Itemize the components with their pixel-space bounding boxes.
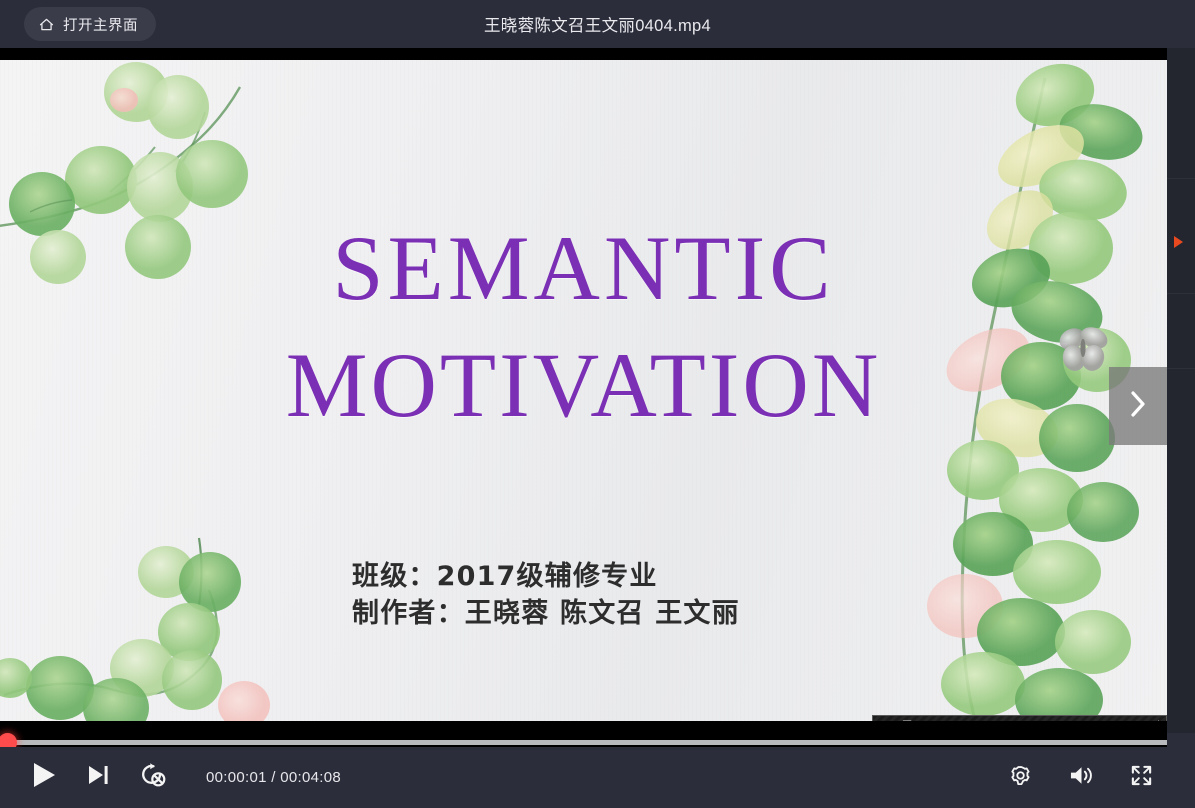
loop-toggle-button[interactable]: [136, 762, 168, 794]
next-slide-button[interactable]: [1109, 367, 1167, 445]
video-title: 王晓蓉陈文召王文丽0404.mp4: [0, 0, 1195, 48]
rail-divider: [1167, 178, 1195, 179]
region-select-icon[interactable]: [940, 719, 955, 722]
rail-divider: [1167, 368, 1195, 369]
rail-play-marker-icon[interactable]: [1174, 236, 1183, 248]
top-bar: 王晓蓉陈文召王文丽0404.mp4 打开主界面: [0, 0, 1195, 48]
presentation-slide: SEMANTIC MOTIVATION 班级：2017级辅修专业 制作者：王晓蓉…: [0, 60, 1167, 721]
slide-title: SEMANTIC MOTIVATION: [0, 210, 1167, 444]
open-main-interface-button[interactable]: 打开主界面: [24, 7, 156, 41]
settings-button[interactable]: [1005, 762, 1037, 794]
recording-status: 正在录制 [00:00:01]: [964, 719, 1059, 722]
play-button[interactable]: [28, 762, 60, 794]
chevron-down-icon[interactable]: [877, 719, 892, 722]
home-icon: [38, 16, 55, 33]
recording-timer: [00:00:01]: [1010, 721, 1059, 722]
slide-subtitle-authors: 制作者：王晓蓉 陈文召 王文丽: [352, 595, 740, 632]
stop-record-icon[interactable]: [1116, 719, 1131, 722]
time-display: 00:00:01 / 00:04:08: [206, 769, 341, 786]
player-controls-bar: 00:00:01 / 00:04:08: [0, 747, 1195, 808]
player-controls-right: [1005, 762, 1195, 794]
fullscreen-icon: [1130, 764, 1153, 792]
next-track-button[interactable]: [82, 762, 114, 794]
window-icon[interactable]: [898, 719, 913, 722]
slide-subtitle-class: 班级：2017级辅修专业: [352, 558, 740, 595]
video-player-app: 王晓蓉陈文召王文丽0404.mp4 打开主界面: [0, 0, 1195, 808]
rail-divider: [1167, 293, 1195, 294]
video-stage[interactable]: SEMANTIC MOTIVATION 班级：2017级辅修专业 制作者：王晓蓉…: [0, 48, 1167, 733]
pencil-icon[interactable]: [1074, 719, 1089, 722]
slide-title-line2: MOTIVATION: [0, 327, 1167, 444]
progress-fill: [0, 740, 4, 745]
play-icon: [31, 761, 57, 794]
progress-track[interactable]: [0, 740, 1167, 745]
fullscreen-button[interactable]: [1125, 762, 1157, 794]
open-main-interface-label: 打开主界面: [63, 14, 138, 35]
next-track-icon: [86, 763, 110, 792]
progress-rail-edge: [1167, 733, 1195, 747]
volume-button[interactable]: [1065, 762, 1097, 794]
slide-title-line1: SEMANTIC: [0, 210, 1167, 327]
gear-icon: [1010, 764, 1033, 792]
volume-icon: [1069, 764, 1094, 792]
screen-recorder-toolbar[interactable]: 正在录制 [00:00:01]: [872, 715, 1167, 721]
right-side-rail[interactable]: [1167, 48, 1195, 733]
camera-icon[interactable]: [1137, 719, 1152, 722]
video-progress-bar[interactable]: [0, 733, 1195, 747]
loop-off-icon: [138, 762, 166, 793]
close-icon[interactable]: [1165, 719, 1167, 722]
toolbar-divider: [1158, 720, 1159, 722]
pause-record-icon[interactable]: [1095, 719, 1110, 722]
magnifier-icon[interactable]: [919, 719, 934, 722]
recording-status-label: 正在录制: [964, 721, 1007, 722]
slide-subtitle: 班级：2017级辅修专业 制作者：王晓蓉 陈文召 王文丽: [352, 558, 740, 633]
chevron-right-icon: [1128, 389, 1148, 424]
player-controls-left: 00:00:01 / 00:04:08: [0, 762, 341, 794]
